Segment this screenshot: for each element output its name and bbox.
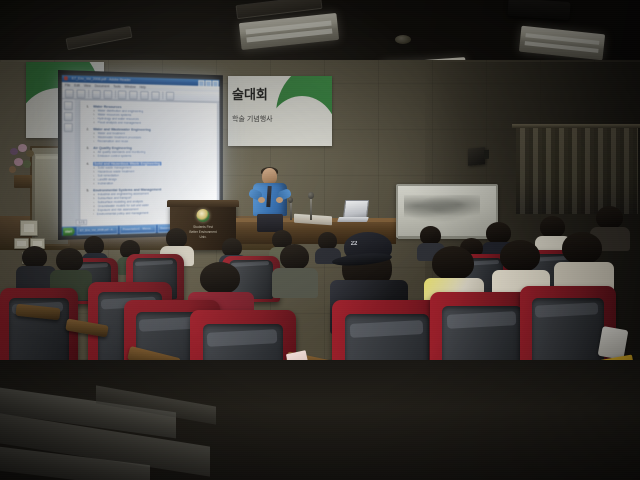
item-text: Incineration xyxy=(98,181,114,185)
item-text: Emission control systems xyxy=(98,154,132,158)
section-number: 4. xyxy=(86,161,91,165)
zoom-out-icon[interactable] xyxy=(118,90,126,99)
audience-member xyxy=(318,232,338,260)
whiteboard xyxy=(396,184,498,238)
head xyxy=(22,246,47,268)
lecture-hall-photo: 2 일시 술대회 학술 기념행사 E7_Env_Vol_2008.pdf - A… xyxy=(0,0,640,480)
start-button[interactable]: start xyxy=(63,227,75,235)
item-text: Flood analysis and management xyxy=(98,121,141,125)
audience-member xyxy=(22,246,48,286)
laptop-base xyxy=(337,217,369,222)
bookmarks-icon[interactable] xyxy=(64,101,73,110)
pages-icon[interactable] xyxy=(64,112,73,121)
item-text: Reclamation and reuse xyxy=(97,139,128,143)
navigation-pane[interactable] xyxy=(62,99,76,227)
next-page-icon[interactable] xyxy=(152,91,160,100)
item-text: Environmental policy and management xyxy=(97,211,149,216)
section-number: 3. xyxy=(86,146,91,150)
toolbar-divider xyxy=(115,90,116,98)
item-marker: d. xyxy=(93,120,96,124)
section-item: b. Emission control systems xyxy=(93,154,212,158)
snapshot-icon[interactable] xyxy=(103,90,112,99)
doc-section: 3. Air Quality Engineering a. Air qualit… xyxy=(86,146,212,158)
audience-member xyxy=(56,248,84,290)
toolbar-divider xyxy=(163,92,164,100)
prev-page-icon[interactable] xyxy=(140,91,148,100)
zoom-in-icon[interactable] xyxy=(129,90,137,99)
section-number: 5. xyxy=(86,188,91,192)
presenter-right-hand xyxy=(276,197,283,203)
taskbar-item[interactable]: Presentation1 - Micros... xyxy=(120,224,156,234)
doc-section-highlighted: 4. Solid and Hazardous Waste Engineering… xyxy=(86,161,212,185)
flower-arrangement xyxy=(6,142,40,188)
section-number: 2. xyxy=(86,127,91,131)
adobe-reader-icon xyxy=(64,77,68,81)
head xyxy=(166,228,187,248)
banner-headline: 술대회 xyxy=(232,84,268,103)
head xyxy=(500,240,540,272)
taskbar-item[interactable]: E7_Env_Vol_2008.pdf - A... xyxy=(77,225,118,235)
flower-pot xyxy=(14,175,32,188)
doc-section: 1. Water Resources a. Water distribution… xyxy=(86,105,212,126)
item-marker: e. xyxy=(93,181,96,185)
head xyxy=(56,248,83,272)
section-item: d. Flood analysis and management xyxy=(93,120,212,125)
print-icon[interactable] xyxy=(77,89,86,98)
microphone xyxy=(310,196,312,220)
head xyxy=(280,244,309,270)
university-crest-icon xyxy=(197,209,210,222)
item-marker: f. xyxy=(93,212,95,216)
audience-member-with-cap: 22 xyxy=(340,232,396,306)
open-icon[interactable] xyxy=(65,89,74,98)
head xyxy=(200,262,240,294)
cap-number-label: 22 xyxy=(351,241,358,247)
window-curtain xyxy=(516,128,638,214)
banner-right: 술대회 학술 기념행사 xyxy=(228,76,332,146)
audience-member xyxy=(562,232,602,290)
wall-speaker-icon xyxy=(468,147,485,166)
baseball-cap: 22 xyxy=(344,232,392,262)
head xyxy=(432,246,474,280)
attachments-icon[interactable] xyxy=(64,123,73,132)
section-item: c. Reclamation and reuse xyxy=(93,139,212,143)
ceiling-speaker-icon xyxy=(395,35,411,44)
window-title-text: E7_Env_Vol_2008.pdf - Adobe Reader xyxy=(72,76,131,82)
select-icon[interactable] xyxy=(92,89,101,98)
item-marker: b. xyxy=(93,154,96,158)
section-item: e. Incineration xyxy=(93,180,212,185)
doc-section: 2. Water and Wastewater Engineering a. W… xyxy=(86,127,212,143)
presenter-left-hand xyxy=(258,197,265,203)
page-indicator[interactable]: 1 / 1 xyxy=(76,219,88,225)
head xyxy=(596,206,623,229)
laptop[interactable] xyxy=(338,200,368,222)
presenter xyxy=(250,168,294,230)
audience-member xyxy=(280,244,310,288)
light-switch-panel[interactable] xyxy=(20,220,38,236)
item-marker: c. xyxy=(93,139,95,143)
toolbar-divider xyxy=(88,90,89,98)
head xyxy=(562,232,602,264)
body xyxy=(272,268,318,298)
section-number: 1. xyxy=(86,105,91,109)
search-icon[interactable] xyxy=(166,91,174,100)
whiteboard-writing xyxy=(404,195,480,222)
banner-subtext: 학술 기념행사 xyxy=(232,114,273,124)
lectern-top xyxy=(167,200,239,207)
